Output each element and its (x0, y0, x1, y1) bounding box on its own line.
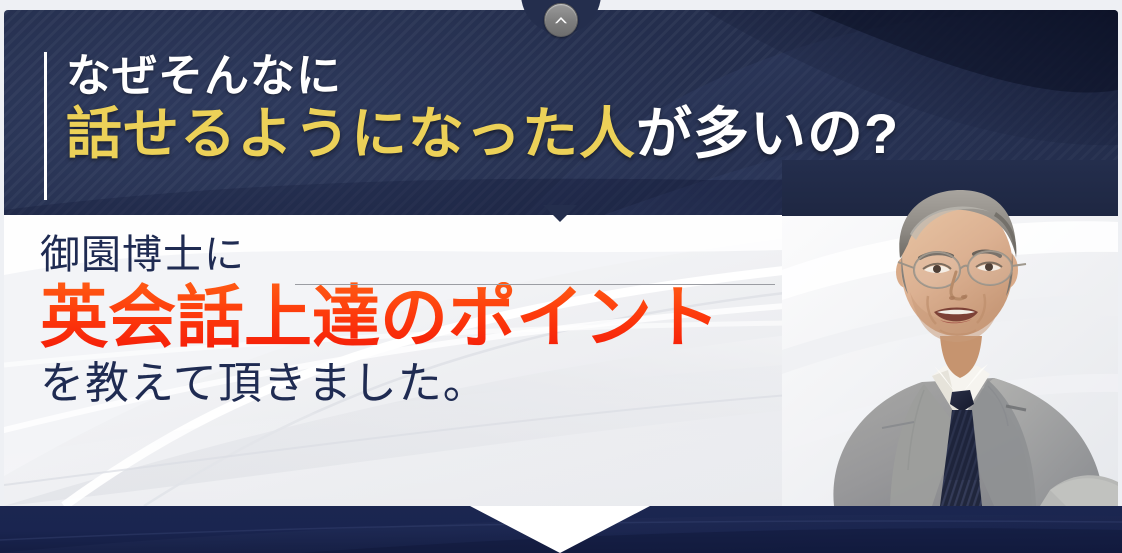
middle-divider-rule (295, 284, 775, 285)
portrait-illustration (782, 160, 1118, 506)
hero-headline-highlight: 話せるようになった人 (66, 102, 636, 165)
chevron-up-icon (551, 10, 571, 30)
hero-accent-bar (44, 52, 47, 200)
hero-headline-line1: なぜそんなに (66, 52, 1066, 101)
middle-headline-line3: を教えて頂きました。 (40, 359, 840, 408)
hero-headline-rest: が多いの? (636, 102, 899, 165)
page-right-margin (1118, 0, 1122, 506)
hero-text-block: なぜそんなに 話せるようになった人が多いの? (66, 52, 1066, 164)
middle-text-block: 御園博士に 英会話上達のポイント を教えて頂きました。 (40, 233, 840, 409)
page-root: なぜそんなに 話せるようになった人が多いの? (0, 0, 1122, 553)
hero-headline-line2: 話せるようになった人が多いの? (66, 103, 1066, 165)
scroll-to-top-button[interactable] (544, 3, 578, 37)
portrait-photo (782, 160, 1118, 506)
middle-headline-line1: 御園博士に (40, 233, 840, 278)
middle-headline-emphasis: 英会話上達のポイント (40, 282, 840, 355)
bottom-bar-notch (470, 506, 650, 553)
hero-bottom-notch (543, 205, 577, 222)
